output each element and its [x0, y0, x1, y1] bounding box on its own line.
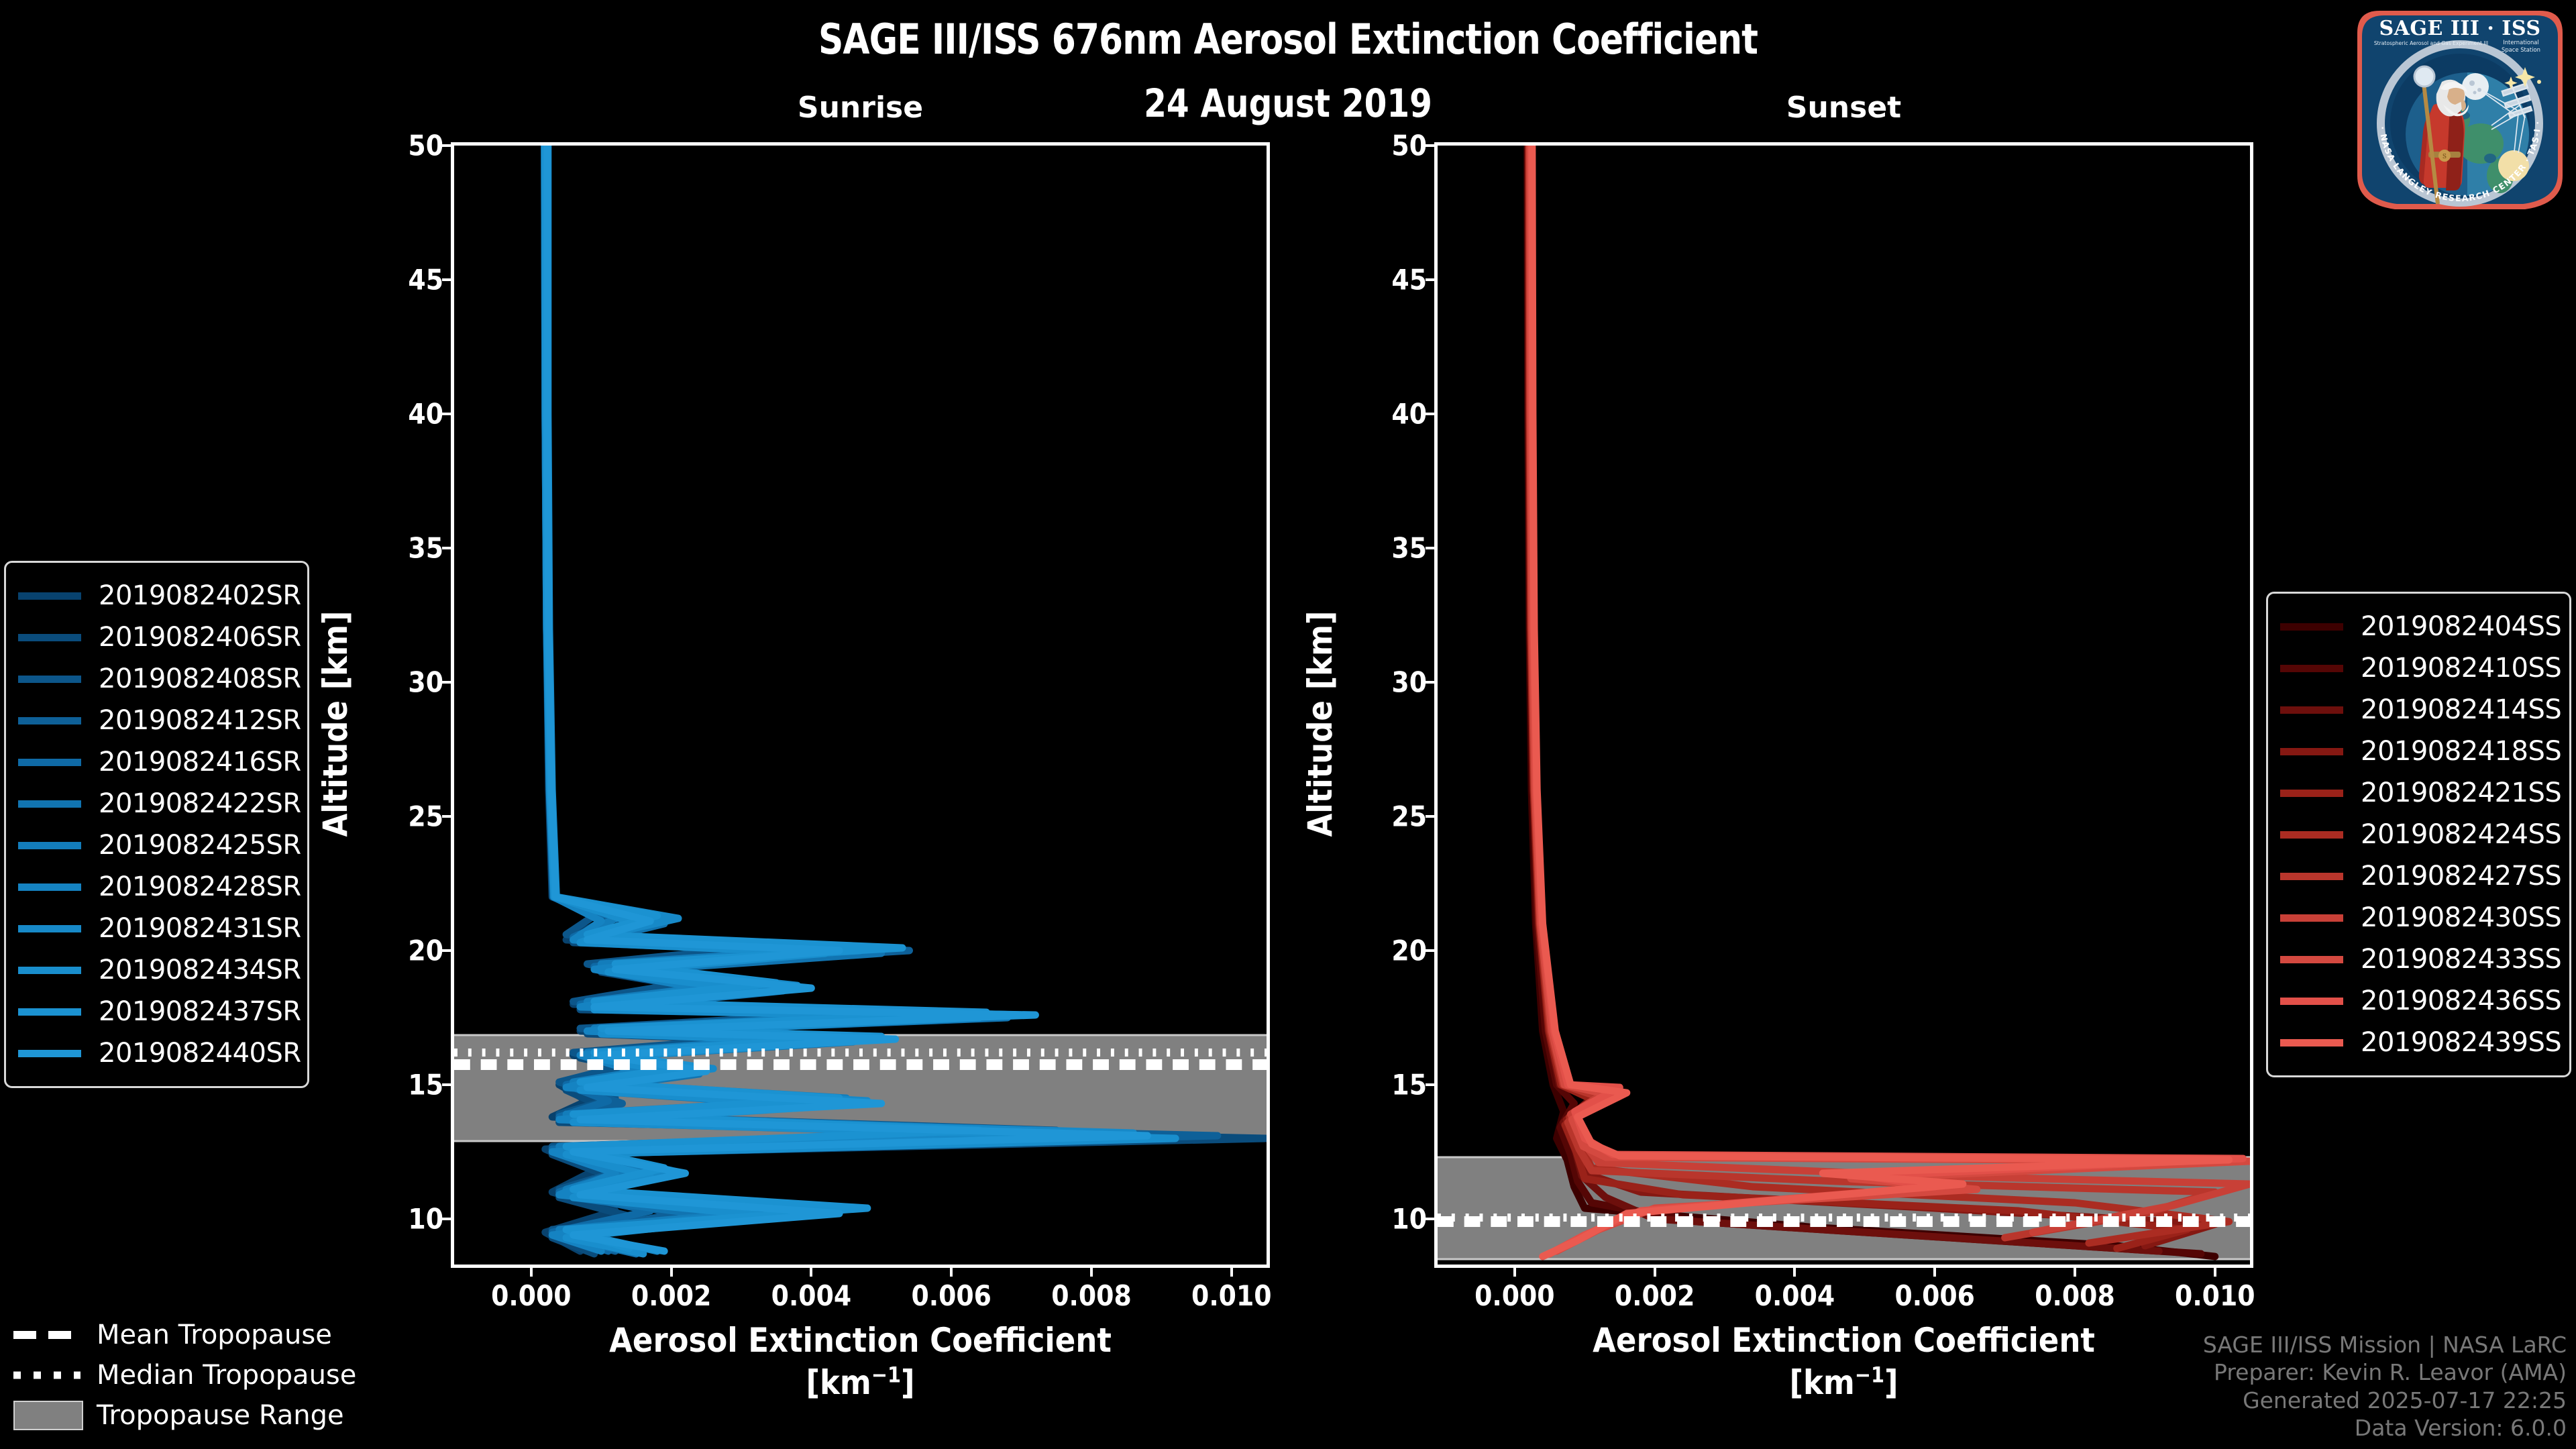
legend-sunset-label: 2019082418SS	[2361, 736, 2561, 767]
legend-sunrise-item[interactable]: 2019082437SR	[18, 991, 292, 1032]
x-tick-mark	[1654, 1265, 1656, 1277]
x-tick-mark	[530, 1265, 533, 1277]
legend-sunset-label: 2019082421SS	[2361, 777, 2561, 808]
legend-sunset-label: 2019082433SS	[2361, 944, 2561, 975]
y-tick-label: 50	[408, 129, 443, 162]
legend-sunset-label: 2019082439SS	[2361, 1027, 2561, 1058]
y-tick-label: 30	[408, 666, 443, 699]
legend-item-mean-tropopause: Mean Tropopause	[13, 1315, 329, 1355]
logo-subtitle-left: Stratospheric Aerosol and Gas Experiment…	[2374, 40, 2488, 46]
x-tick-label: 0.010	[1191, 1279, 1272, 1312]
legend-sunset-item[interactable]: 2019082439SS	[2280, 1022, 2555, 1063]
y-tick-label: 20	[408, 934, 443, 967]
legend-sunrise-item[interactable]: 2019082406SR	[18, 616, 292, 658]
legend-sunrise-item[interactable]: 2019082440SR	[18, 1032, 292, 1074]
x-tick-label: 0.000	[491, 1279, 572, 1312]
legend-sunset-color-swatch	[2280, 914, 2343, 922]
y-tick-label: 35	[408, 532, 443, 565]
profile-line	[1529, 146, 2215, 1238]
y-axis-label-right: Altitude [km]	[1301, 611, 1340, 837]
y-tick-mark	[442, 144, 454, 147]
legend-sunrise-label: 2019082406SR	[99, 622, 301, 653]
y-tick-mark	[442, 815, 454, 818]
legend-sunset-label: 2019082427SS	[2361, 861, 2561, 892]
y-tick-mark	[442, 278, 454, 281]
legend-sunset-color-swatch	[2280, 956, 2343, 963]
x-tick-mark	[1793, 1265, 1796, 1277]
legend-sunset-color-swatch	[2280, 1039, 2343, 1046]
credits-preparer: Preparer: Kevin R. Leavor (AMA)	[2203, 1358, 2567, 1387]
y-tick-label: 10	[408, 1203, 443, 1236]
legend-sunset-color-swatch	[2280, 665, 2343, 672]
y-tick-label: 30	[1391, 666, 1427, 699]
legend-sunrise-label: 2019082402SR	[99, 580, 301, 611]
x-tick-label: 0.006	[911, 1279, 991, 1312]
y-tick-mark	[442, 681, 454, 684]
profile-line	[1531, 146, 2250, 1232]
legend-sunrise-label: 2019082422SR	[99, 788, 301, 819]
profile-line	[1532, 146, 2243, 1254]
legend-sunrise-item[interactable]: 2019082402SR	[18, 575, 292, 616]
legend-sunrise-item[interactable]: 2019082412SR	[18, 700, 292, 741]
x-tick-label: 0.010	[2175, 1279, 2255, 1312]
y-tick-label: 10	[1391, 1203, 1427, 1236]
legend-sunset-item[interactable]: 2019082421SS	[2280, 772, 2555, 814]
x-tick-label: 0.004	[1755, 1279, 1835, 1312]
sunset-plot-panel: Aerosol Extinction Coefficient [km−1] 10…	[1434, 142, 2253, 1268]
x-tick-mark	[1230, 1265, 1233, 1277]
legend-sunset-color-swatch	[2280, 748, 2343, 755]
legend-sunrise-color-swatch	[18, 967, 81, 974]
legend-sunset-color-swatch	[2280, 790, 2343, 797]
x-tick-label: 0.008	[2035, 1279, 2115, 1312]
legend-sunrise-label: 2019082434SR	[99, 955, 301, 985]
y-tick-mark	[442, 1218, 454, 1220]
credits-generated: Generated 2025-07-17 22:25	[2203, 1387, 2567, 1415]
profile-line	[1528, 146, 2201, 1254]
profile-line	[1530, 146, 2229, 1243]
legend-item-tropopause-range: Tropopause Range	[13, 1395, 329, 1436]
y-tick-label: 50	[1391, 129, 1427, 162]
legend-sunrise-color-swatch	[18, 676, 81, 683]
legend-sunrise-item[interactable]: 2019082416SR	[18, 741, 292, 783]
legend-sunset-item[interactable]: 2019082430SS	[2280, 897, 2555, 938]
y-tick-mark	[1426, 1083, 1438, 1086]
legend-sunset-color-swatch	[2280, 831, 2343, 839]
x-axis-label-left: Aerosol Extinction Coefficient [km−1]	[454, 1320, 1267, 1404]
logo-title: SAGE III · ISS	[2379, 17, 2540, 40]
y-tick-label: 15	[1391, 1069, 1427, 1102]
legend-sunrise-color-swatch	[18, 759, 81, 766]
legend-sunrise-color-swatch	[18, 883, 81, 891]
legend-sunset-color-swatch	[2280, 623, 2343, 631]
credits-mission: SAGE III/ISS Mission | NASA LaRC	[2203, 1331, 2567, 1359]
svg-text:S: S	[2443, 154, 2447, 160]
x-tick-mark	[670, 1265, 673, 1277]
legend-sunset-item[interactable]: 2019082424SS	[2280, 814, 2555, 855]
y-tick-mark	[442, 1083, 454, 1086]
credits-data-version: Data Version: 6.0.0	[2203, 1414, 2567, 1442]
x-tick-mark	[810, 1265, 812, 1277]
legend-sunset-color-swatch	[2280, 706, 2343, 714]
page-title: SAGE III/ISS 676nm Aerosol Extinction Co…	[90, 15, 2485, 64]
legend-sunset-label: 2019082414SS	[2361, 694, 2561, 725]
mean-tropopause-label: Mean Tropopause	[97, 1320, 332, 1350]
logo-subtitle-right-1: International	[2503, 39, 2538, 46]
legend-sunrise-label: 2019082425SR	[99, 830, 301, 861]
y-tick-label: 25	[408, 800, 443, 833]
legend-sunrise-label: 2019082408SR	[99, 663, 301, 694]
y-tick-mark	[1426, 815, 1438, 818]
x-tick-label: 0.004	[771, 1279, 852, 1312]
legend-sunrise-label: 2019082431SR	[99, 913, 301, 944]
y-tick-mark	[1426, 278, 1438, 281]
y-tick-label: 15	[408, 1069, 443, 1102]
legend-sunrise-label: 2019082437SR	[99, 996, 301, 1027]
median-tropopause-swatch	[13, 1366, 80, 1384]
legend-sunrise-color-swatch	[18, 1050, 81, 1057]
y-tick-label: 40	[408, 398, 443, 431]
legend-sunrise-label: 2019082440SR	[99, 1038, 301, 1069]
legend-sunset-color-swatch	[2280, 998, 2343, 1005]
legend-sunrise-label: 2019082412SR	[99, 705, 301, 736]
legend-sunrise-item[interactable]: 2019082408SR	[18, 658, 292, 700]
legend-sunset-item[interactable]: 2019082410SS	[2280, 647, 2555, 689]
legend-sunset-label: 2019082410SS	[2361, 653, 2561, 684]
legend-sunset-color-swatch	[2280, 873, 2343, 880]
tropopause-range-label: Tropopause Range	[97, 1400, 344, 1431]
legend-sunrise-color-swatch	[18, 800, 81, 808]
logo-subtitle-right-2: Space Station	[2502, 46, 2540, 53]
sunset-plot-canvas	[1438, 146, 2250, 1265]
x-axis-label-right: Aerosol Extinction Coefficient [km−1]	[1438, 1320, 2250, 1404]
y-tick-mark	[442, 547, 454, 549]
x-tick-mark	[2214, 1265, 2216, 1277]
x-tick-mark	[950, 1265, 953, 1277]
y-tick-mark	[442, 949, 454, 952]
x-axis-unit-left: [km−1]	[806, 1363, 914, 1402]
y-axis-label-left: Altitude [km]	[316, 611, 355, 837]
y-tick-mark	[1426, 1218, 1438, 1220]
y-tick-label: 45	[1391, 264, 1427, 297]
profile-line	[1527, 146, 2215, 1256]
tropopause-range-swatch	[13, 1407, 80, 1424]
sage-iii-iss-mission-patch-logo: S BALL · NASA LANGLEY RESEARCH CENTER · …	[2349, 3, 2571, 217]
x-axis-label-text-left: Aerosol Extinction Coefficient	[609, 1321, 1112, 1360]
legend-sunrise-color-swatch	[18, 717, 81, 724]
profile-line	[1529, 146, 2159, 1251]
legend-sunrise-item[interactable]: 2019082425SR	[18, 824, 292, 866]
sunrise-plot-panel: Aerosol Extinction Coefficient [km−1] 10…	[451, 142, 1270, 1268]
x-axis-unit-right: [km−1]	[1789, 1363, 1898, 1402]
y-tick-mark	[1426, 547, 1438, 549]
legend-sunset-item[interactable]: 2019082427SS	[2280, 855, 2555, 897]
legend-sunrise-item[interactable]: 2019082431SR	[18, 908, 292, 949]
y-tick-label: 45	[408, 264, 443, 297]
x-tick-label: 0.000	[1474, 1279, 1555, 1312]
legend-sunrise-label: 2019082428SR	[99, 871, 301, 902]
x-tick-label: 0.008	[1051, 1279, 1132, 1312]
y-tick-mark	[1426, 949, 1438, 952]
legend-sunset-label: 2019082436SS	[2361, 985, 2561, 1016]
legend-sunset-item[interactable]: 2019082436SS	[2280, 980, 2555, 1022]
legend-sunset: 2019082404SS2019082410SS2019082414SS2019…	[2266, 592, 2571, 1077]
sunrise-panel-title: Sunrise	[451, 91, 1270, 125]
profile-line	[1530, 146, 2250, 1251]
legend-sunset-item[interactable]: 2019082418SS	[2280, 731, 2555, 772]
profile-line	[1532, 146, 2229, 1256]
legend-sunset-label: 2019082424SS	[2361, 819, 2561, 850]
legend-sunrise-color-swatch	[18, 1008, 81, 1016]
y-tick-label: 40	[1391, 398, 1427, 431]
legend-sunrise-item[interactable]: 2019082428SR	[18, 866, 292, 908]
profile-line	[1529, 146, 2187, 1248]
legend-sunset-item[interactable]: 2019082414SS	[2280, 689, 2555, 731]
x-tick-mark	[1933, 1265, 1936, 1277]
credits-block: SAGE III/ISS Mission | NASA LaRC Prepare…	[2203, 1331, 2567, 1442]
legend-sunrise-color-swatch	[18, 592, 81, 600]
mean-tropopause-swatch	[13, 1326, 80, 1344]
x-tick-mark	[2074, 1265, 2076, 1277]
sunset-panel-title: Sunset	[1434, 91, 2253, 125]
x-tick-label: 0.002	[631, 1279, 712, 1312]
x-tick-label: 0.006	[1894, 1279, 1975, 1312]
legend-sunset-item[interactable]: 2019082404SS	[2280, 606, 2555, 647]
legend-sunrise: 2019082402SR2019082406SR2019082408SR2019…	[4, 561, 309, 1088]
legend-sunrise-item[interactable]: 2019082422SR	[18, 783, 292, 824]
y-tick-mark	[442, 413, 454, 415]
sunrise-plot-canvas	[454, 146, 1267, 1265]
legend-sunrise-color-swatch	[18, 925, 81, 932]
y-tick-mark	[1426, 413, 1438, 415]
y-tick-label: 35	[1391, 532, 1427, 565]
x-tick-label: 0.002	[1615, 1279, 1695, 1312]
legend-item-median-tropopause: Median Tropopause	[13, 1355, 329, 1395]
y-tick-label: 25	[1391, 800, 1427, 833]
legend-sunset-item[interactable]: 2019082433SS	[2280, 938, 2555, 980]
y-tick-label: 20	[1391, 934, 1427, 967]
x-tick-mark	[1513, 1265, 1516, 1277]
legend-sunrise-color-swatch	[18, 634, 81, 641]
legend-sunrise-color-swatch	[18, 842, 81, 849]
y-tick-mark	[1426, 681, 1438, 684]
x-tick-mark	[1090, 1265, 1093, 1277]
legend-sunset-label: 2019082430SS	[2361, 902, 2561, 933]
median-tropopause-label: Median Tropopause	[97, 1360, 356, 1391]
legend-sunrise-label: 2019082416SR	[99, 747, 301, 777]
profile-line	[1529, 146, 2215, 1246]
legend-tropopause: Mean Tropopause Median Tropopause Tropop…	[13, 1315, 329, 1436]
y-tick-mark	[1426, 144, 1438, 147]
legend-sunrise-item[interactable]: 2019082434SR	[18, 949, 292, 991]
x-axis-label-text-right: Aerosol Extinction Coefficient	[1593, 1321, 2095, 1360]
legend-sunset-label: 2019082404SS	[2361, 611, 2561, 642]
